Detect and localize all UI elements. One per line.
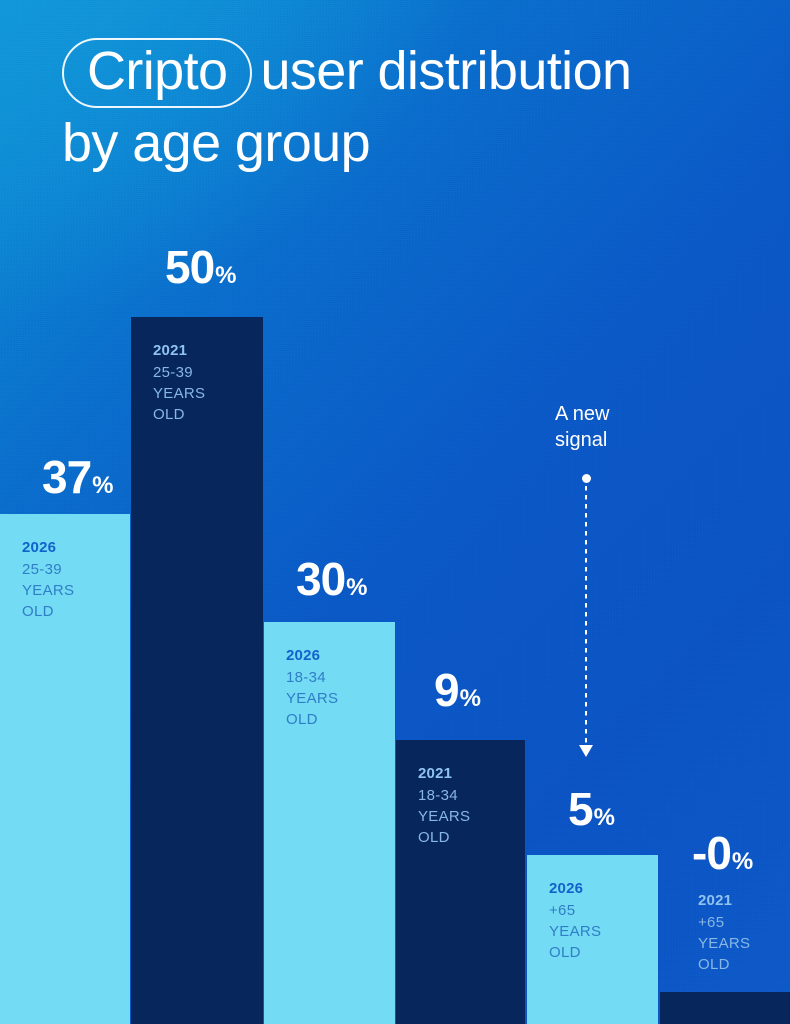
bar-year: 2021 bbox=[153, 341, 255, 361]
value-label-2026-25-39: 37% bbox=[42, 450, 114, 504]
bar-years-text: YEARS bbox=[22, 580, 122, 601]
page-title: Criptouser distribution by age group bbox=[62, 36, 752, 178]
bar-year: 2026 bbox=[549, 879, 650, 899]
bar-age-range: 25-39 bbox=[22, 559, 122, 580]
bar-year: 2021 bbox=[698, 891, 782, 911]
bar-year: 2021 bbox=[418, 764, 517, 784]
value-label-2021-18-34: 9% bbox=[434, 663, 481, 717]
bar-old-text: OLD bbox=[698, 954, 782, 975]
value-number: 9 bbox=[434, 664, 459, 716]
bar-old-text: OLD bbox=[22, 601, 122, 622]
bar-label-group: 2026 +65 YEARS OLD bbox=[549, 879, 650, 963]
percent-symbol: % bbox=[732, 848, 753, 875]
title-line-1-rest: user distribution bbox=[260, 41, 631, 101]
bar-2026-18-34[interactable]: 2026 18-34 YEARS OLD bbox=[264, 622, 395, 1024]
bar-years-text: YEARS bbox=[698, 933, 782, 954]
annotation-label-line-2: signal bbox=[555, 427, 675, 453]
bar-label-group-2021-65-plus: 2021 +65 YEARS OLD bbox=[698, 891, 782, 975]
bar-years-text: YEARS bbox=[286, 688, 387, 709]
bar-2021-65-plus[interactable] bbox=[660, 992, 790, 1024]
percent-symbol: % bbox=[215, 262, 236, 289]
percent-symbol: % bbox=[346, 574, 367, 601]
bar-old-text: OLD bbox=[549, 942, 650, 963]
title-line-1: Criptouser distribution bbox=[62, 36, 752, 108]
bar-years-text: YEARS bbox=[153, 383, 255, 404]
bar-2021-25-39[interactable]: 2021 25-39 YEARS OLD bbox=[131, 317, 263, 1024]
value-number: 5 bbox=[568, 783, 593, 835]
percent-symbol: % bbox=[92, 472, 113, 499]
value-number: 30 bbox=[296, 553, 345, 605]
bar-age-range: +65 bbox=[698, 912, 782, 933]
bar-years-text: YEARS bbox=[549, 921, 650, 942]
down-arrow-icon bbox=[579, 745, 593, 757]
annotation-label-line-1: A new bbox=[555, 401, 675, 427]
bar-label-group: 2021 25-39 YEARS OLD bbox=[153, 341, 255, 425]
bar-year: 2026 bbox=[22, 538, 122, 558]
bar-2026-65-plus[interactable]: 2026 +65 YEARS OLD bbox=[527, 855, 658, 1024]
bar-age-range: 18-34 bbox=[286, 667, 387, 688]
value-number: 50 bbox=[165, 241, 214, 293]
brand-pill: Cripto bbox=[62, 38, 252, 108]
value-number: -0 bbox=[692, 827, 731, 879]
bar-old-text: OLD bbox=[153, 404, 255, 425]
bar-label-group: 2021 18-34 YEARS OLD bbox=[418, 764, 517, 848]
bar-age-range: 18-34 bbox=[418, 785, 517, 806]
value-label-2021-25-39: 50% bbox=[165, 240, 237, 294]
value-label-2021-65-plus: -0% bbox=[692, 826, 753, 880]
bar-label-group: 2026 25-39 YEARS OLD bbox=[22, 538, 122, 622]
value-number: 37 bbox=[42, 451, 91, 503]
value-label-2026-65-plus: 5% bbox=[568, 782, 615, 836]
percent-symbol: % bbox=[460, 685, 481, 712]
dot-marker-icon bbox=[582, 474, 591, 483]
title-line-2: by age group bbox=[62, 108, 752, 178]
bar-year: 2026 bbox=[286, 646, 387, 666]
bar-age-range: +65 bbox=[549, 900, 650, 921]
bar-label-group: 2026 18-34 YEARS OLD bbox=[286, 646, 387, 730]
percent-symbol: % bbox=[594, 804, 615, 831]
annotation-label: A new signal bbox=[555, 401, 675, 453]
bar-old-text: OLD bbox=[418, 827, 517, 848]
value-label-2026-18-34: 30% bbox=[296, 552, 368, 606]
bar-2026-25-39[interactable]: 2026 25-39 YEARS OLD bbox=[0, 514, 130, 1024]
infographic-poster: Criptouser distribution by age group 202… bbox=[0, 0, 790, 1024]
bar-age-range: 25-39 bbox=[153, 362, 255, 383]
bar-old-text: OLD bbox=[286, 709, 387, 730]
dotted-connector-line bbox=[585, 486, 587, 748]
bar-2021-18-34[interactable]: 2021 18-34 YEARS OLD bbox=[396, 740, 525, 1024]
bar-years-text: YEARS bbox=[418, 806, 517, 827]
